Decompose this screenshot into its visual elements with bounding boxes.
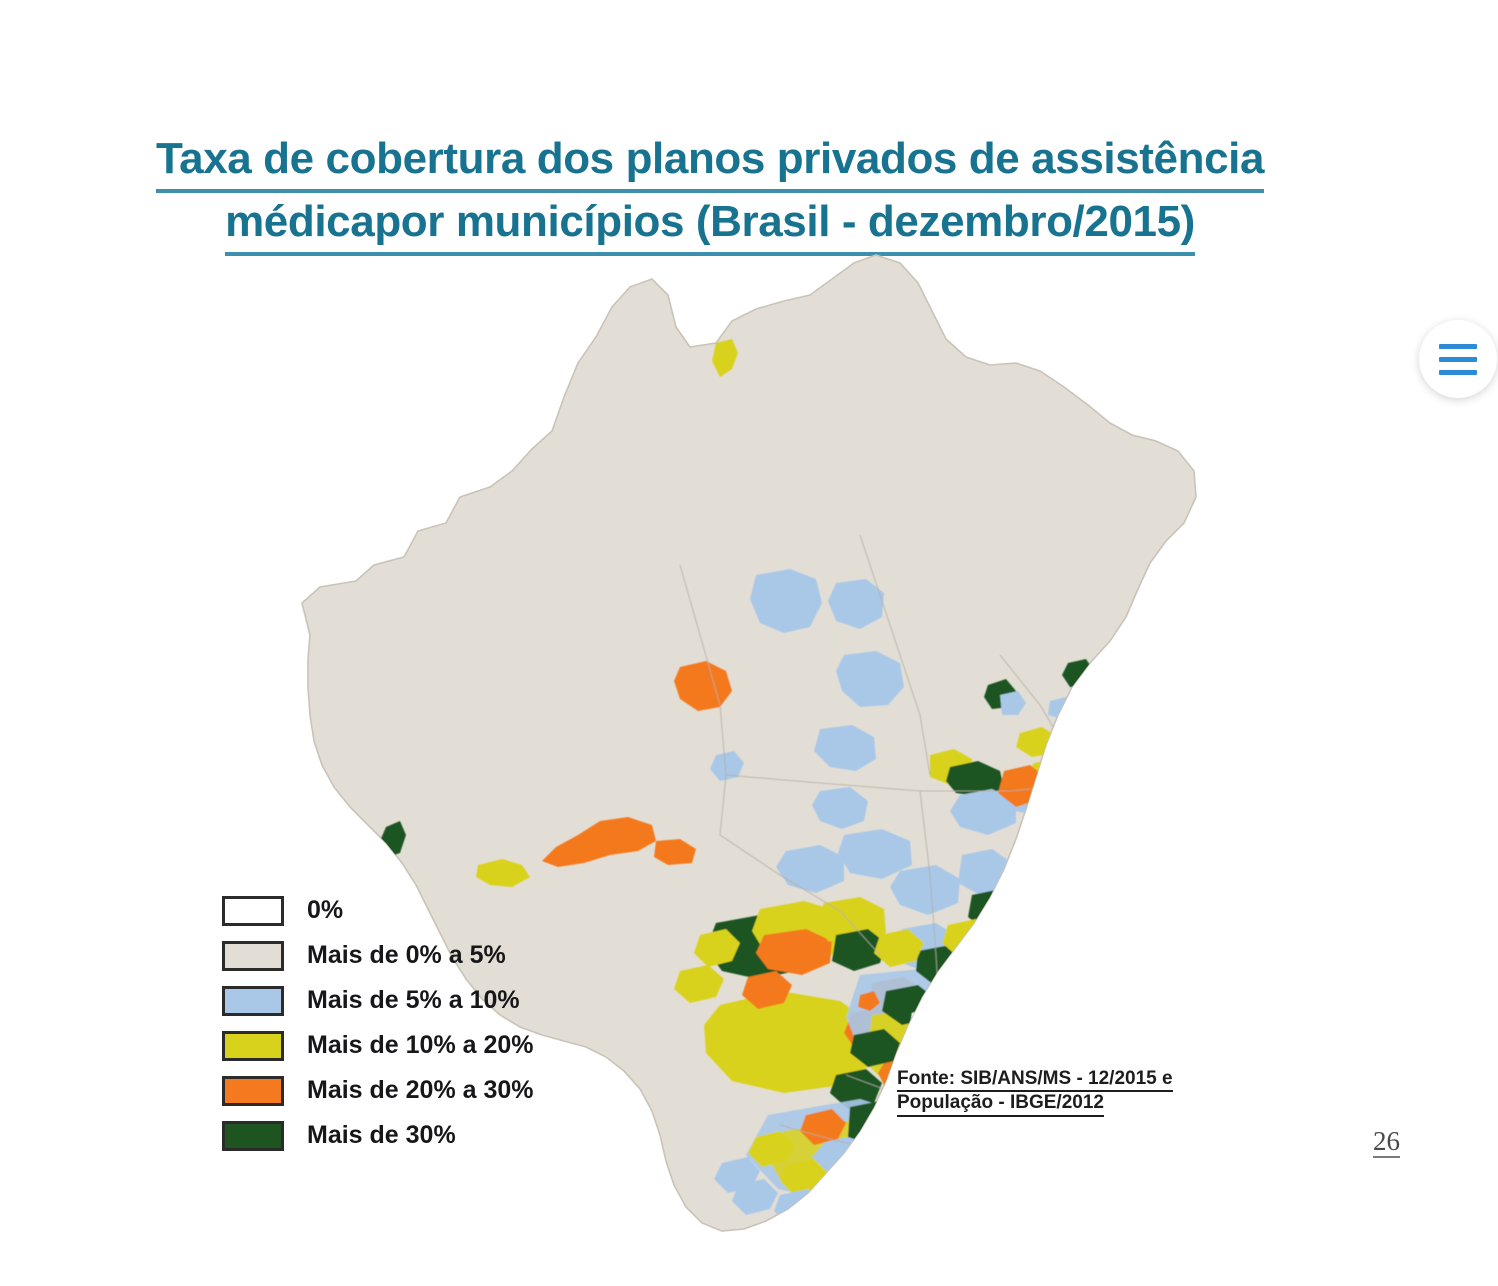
legend-swatch-0	[222, 896, 284, 926]
legend-label-3: Mais de 10% a 20%	[307, 1031, 534, 1060]
legend-swatch-2	[222, 986, 284, 1016]
hamburger-bar-1	[1439, 344, 1477, 349]
legend-item-3: Mais de 10% a 20%	[222, 1023, 592, 1068]
legend-item-2: Mais de 5% a 10%	[222, 978, 592, 1023]
legend-label-2: Mais de 5% a 10%	[307, 986, 520, 1015]
source-note-line-1: Fonte: SIB/ANS/MS - 12/2015 e	[897, 1068, 1173, 1092]
legend-label-1: Mais de 0% a 5%	[307, 941, 506, 970]
legend-swatch-3	[222, 1031, 284, 1061]
legend-swatch-4	[222, 1076, 284, 1106]
hamburger-bar-3	[1439, 370, 1477, 375]
legend-item-5: Mais de 30%	[222, 1113, 592, 1158]
legend-swatch-5	[222, 1121, 284, 1151]
legend-item-4: Mais de 20% a 30%	[222, 1068, 592, 1113]
hamburger-menu-icon[interactable]	[1419, 320, 1497, 398]
hamburger-bar-2	[1439, 357, 1477, 362]
page-number: 26	[1373, 1128, 1400, 1158]
legend-item-1: Mais de 0% a 5%	[222, 933, 592, 978]
source-note-line-2: População - IBGE/2012	[897, 1092, 1104, 1116]
map-legend: 0% Mais de 0% a 5% Mais de 5% a 10% Mais…	[222, 888, 592, 1158]
legend-label-5: Mais de 30%	[307, 1121, 456, 1150]
page-title-line-1: Taxa de cobertura dos planos privados de…	[156, 130, 1264, 193]
legend-label-0: 0%	[307, 896, 343, 925]
legend-swatch-1	[222, 941, 284, 971]
legend-label-4: Mais de 20% a 30%	[307, 1076, 534, 1105]
legend-item-0: 0%	[222, 888, 592, 933]
source-note: Fonte: SIB/ANS/MS - 12/2015 e População …	[897, 1068, 1173, 1117]
